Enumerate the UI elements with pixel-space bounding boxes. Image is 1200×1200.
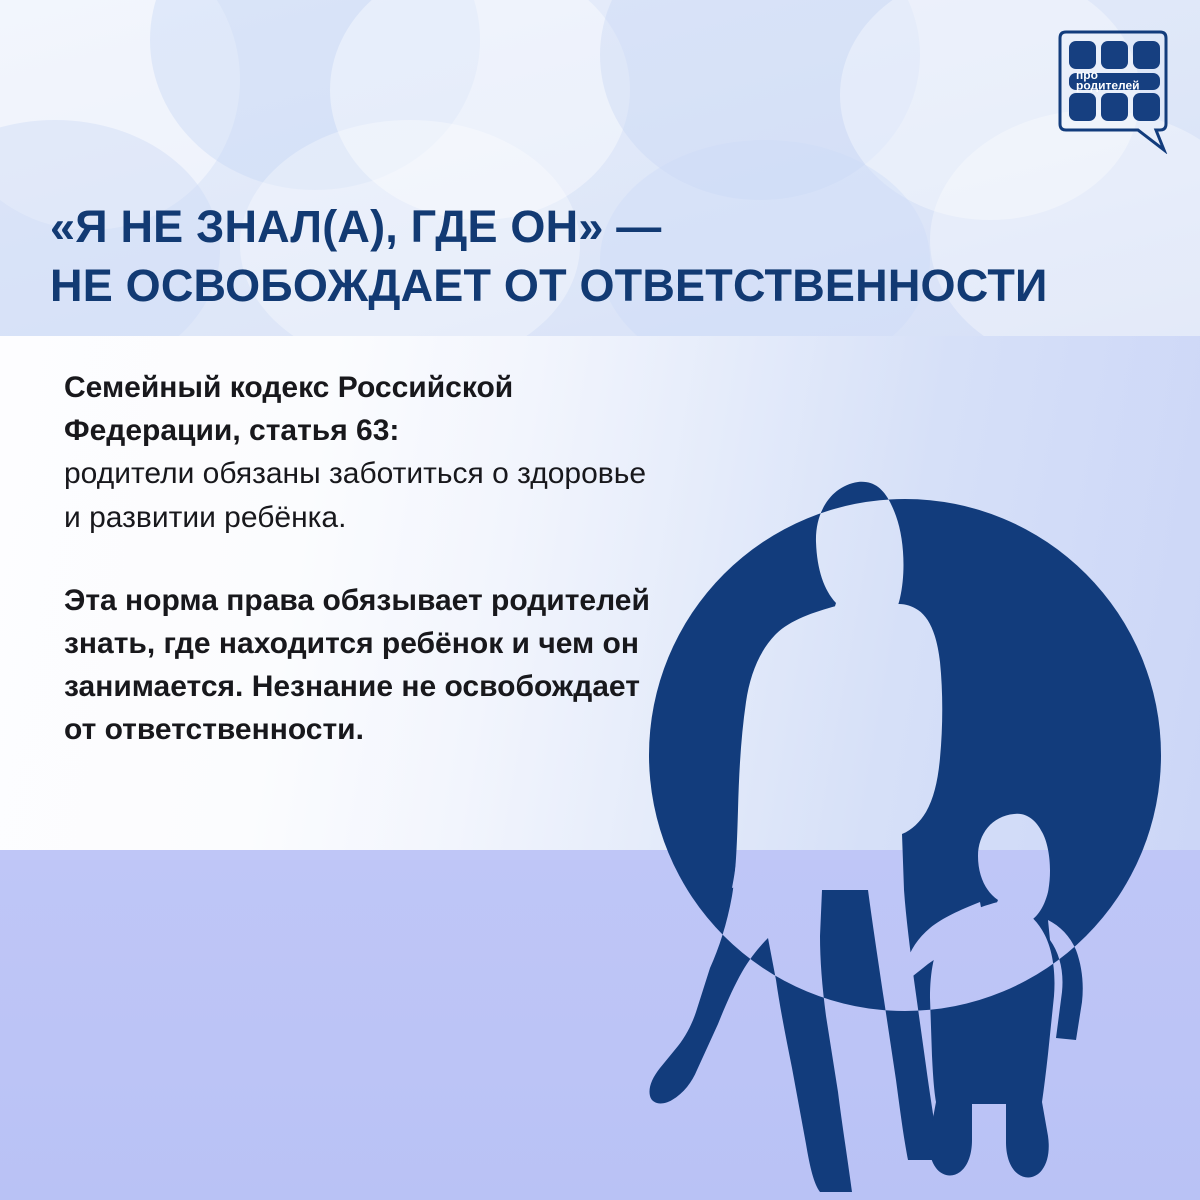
law-reference: Семейный кодекс Российской Федерации, ст… bbox=[64, 366, 664, 452]
headline-line-2: НЕ ОСВОБОЖДАЕТ ОТ ОТВЕТСТВЕННОСТИ bbox=[50, 257, 1110, 316]
law-text: родители обязаны заботиться о здоровье и… bbox=[64, 452, 664, 538]
logo-text-line2: родителей bbox=[1076, 79, 1140, 93]
page-title: «Я НЕ ЗНАЛ(А), ГДЕ ОН» — НЕ ОСВОБОЖДАЕТ … bbox=[50, 198, 1110, 315]
paragraph-2: Эта норма права обязывает родителей знат… bbox=[64, 579, 664, 752]
paragraph-spacer bbox=[64, 539, 664, 579]
paragraph-1: Семейный кодекс Российской Федерации, ст… bbox=[64, 366, 664, 539]
parent-and-child-silhouette bbox=[600, 420, 1200, 1200]
background-blob bbox=[330, 0, 630, 220]
headline-line-1: «Я НЕ ЗНАЛ(А), ГДЕ ОН» — bbox=[50, 198, 1110, 257]
background-blob bbox=[600, 0, 920, 200]
background-blob bbox=[0, 0, 240, 230]
brand-logo[interactable]: про родителей bbox=[1056, 28, 1174, 154]
background-blob bbox=[150, 0, 480, 190]
infographic-poster: про родителей «Я НЕ ЗНАЛ(А), ГДЕ ОН» — Н… bbox=[0, 0, 1200, 1200]
